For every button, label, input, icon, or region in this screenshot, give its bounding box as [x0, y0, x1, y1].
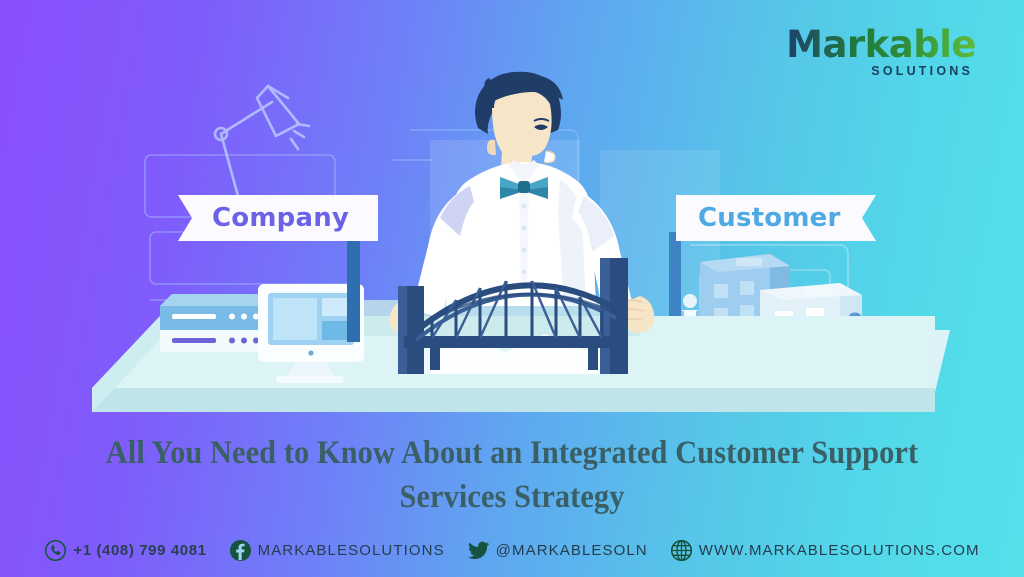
footer-item-phone[interactable]: +1 (408) 799 4081	[44, 539, 206, 562]
logo-subtitle: SOLUTIONS	[786, 65, 976, 78]
logo-wordmark: Markable	[786, 26, 976, 63]
facebook-icon	[229, 539, 252, 562]
globe-icon	[670, 539, 693, 562]
title-line-2: Services Strategy	[41, 476, 983, 520]
ribbon-pole	[347, 232, 360, 342]
brand-logo: Markable SOLUTIONS	[786, 26, 976, 78]
phone-icon	[44, 539, 67, 562]
footer-facebook-label: MARKABLESOLUTIONS	[258, 542, 445, 559]
page-title: All You Need to Know About an Integrated…	[41, 432, 983, 520]
contact-footer: +1 (408) 799 4081 MARKABLESOLUTIONS @MAR…	[0, 533, 1024, 567]
footer-website-label: WWW.MARKABLESOLUTIONS.COM	[699, 542, 980, 559]
footer-item-website[interactable]: WWW.MARKABLESOLUTIONS.COM	[670, 539, 980, 562]
company-ribbon-label: Company	[212, 203, 349, 233]
title-line-1: All You Need to Know About an Integrated…	[41, 432, 983, 476]
customer-ribbon: Customer	[676, 195, 876, 241]
footer-item-twitter[interactable]: @MARKABLESOLN	[467, 539, 648, 562]
footer-item-facebook[interactable]: MARKABLESOLUTIONS	[229, 539, 445, 562]
company-ribbon: Company	[178, 195, 378, 241]
promo-banner: Markable SOLUTIONS Company Customer All …	[0, 0, 1024, 577]
customer-ribbon-label: Customer	[698, 203, 841, 233]
footer-phone-label: +1 (408) 799 4081	[73, 542, 206, 559]
footer-twitter-label: @MARKABLESOLN	[496, 542, 648, 559]
twitter-icon	[467, 539, 490, 562]
